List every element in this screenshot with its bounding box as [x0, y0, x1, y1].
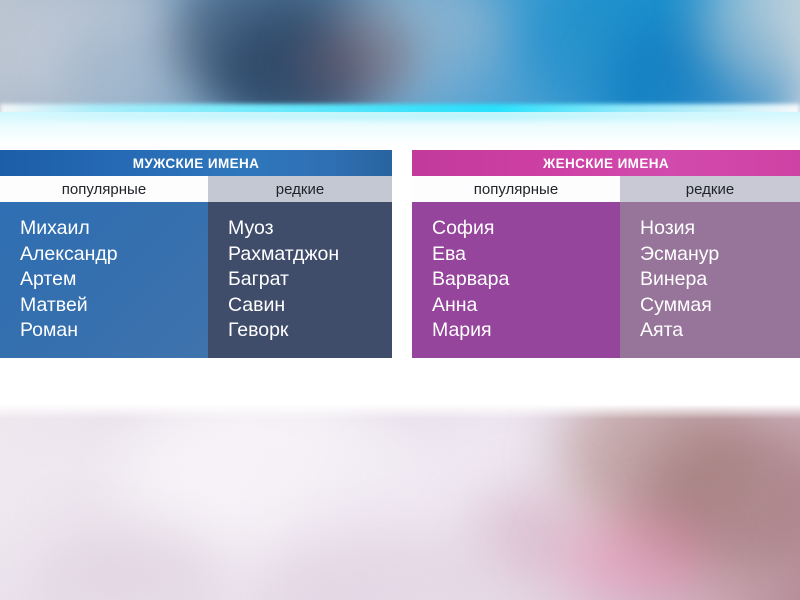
male-popular-names-list: Михаил Александр Артем Матвей Роман	[0, 202, 208, 358]
photo-blur-blob	[300, 18, 420, 108]
top-background-photo	[0, 0, 800, 112]
list-item: Михаил	[20, 216, 208, 242]
list-item: Мария	[432, 318, 620, 344]
list-item: Аята	[640, 318, 800, 344]
list-item: Роман	[20, 318, 208, 344]
cyan-soft-fade	[0, 112, 800, 146]
female-names-panel: ЖЕНСКИЕ ИМЕНА популярные редкие София Ев…	[412, 150, 800, 358]
list-item: Варвара	[432, 267, 620, 293]
list-item: Геворк	[228, 318, 392, 344]
list-item: Савин	[228, 293, 392, 319]
male-names-body: Михаил Александр Артем Матвей Роман Муоз…	[0, 202, 392, 358]
female-popular-names-list: София Ева Варвара Анна Мария	[412, 202, 620, 358]
list-item: Рахматджон	[228, 242, 392, 268]
female-rare-column-label: редкие	[620, 176, 800, 202]
list-item: Ева	[432, 242, 620, 268]
list-item: Анна	[432, 293, 620, 319]
male-popular-column-label: популярные	[0, 176, 208, 202]
list-item: Матвей	[20, 293, 208, 319]
male-rare-column-label: редкие	[208, 176, 392, 202]
photo-blur-blob	[560, 515, 710, 600]
female-popular-column-label: популярные	[412, 176, 620, 202]
list-item: Эсманур	[640, 242, 800, 268]
bottom-background-photo	[0, 405, 800, 600]
male-rare-names-list: Муоз Рахматджон Баграт Савин Геворк	[208, 202, 392, 358]
list-item: Александр	[20, 242, 208, 268]
list-item: Винера	[640, 267, 800, 293]
female-names-body: София Ева Варвара Анна Мария Нозия Эсман…	[412, 202, 800, 358]
female-rare-names-list: Нозия Эсманур Винера Суммая Аята	[620, 202, 800, 358]
male-panel-title: МУЖСКИЕ ИМЕНА	[0, 150, 392, 176]
list-item: Артем	[20, 267, 208, 293]
photo-top-fade	[0, 405, 800, 419]
male-column-headers: популярные редкие	[0, 176, 392, 202]
male-names-panel: МУЖСКИЕ ИМЕНА популярные редкие Михаил А…	[0, 150, 392, 358]
list-item: Баграт	[228, 267, 392, 293]
female-column-headers: популярные редкие	[412, 176, 800, 202]
list-item: Нозия	[640, 216, 800, 242]
female-panel-title: ЖЕНСКИЕ ИМЕНА	[412, 150, 800, 176]
list-item: Муоз	[228, 216, 392, 242]
list-item: София	[432, 216, 620, 242]
list-item: Суммая	[640, 293, 800, 319]
